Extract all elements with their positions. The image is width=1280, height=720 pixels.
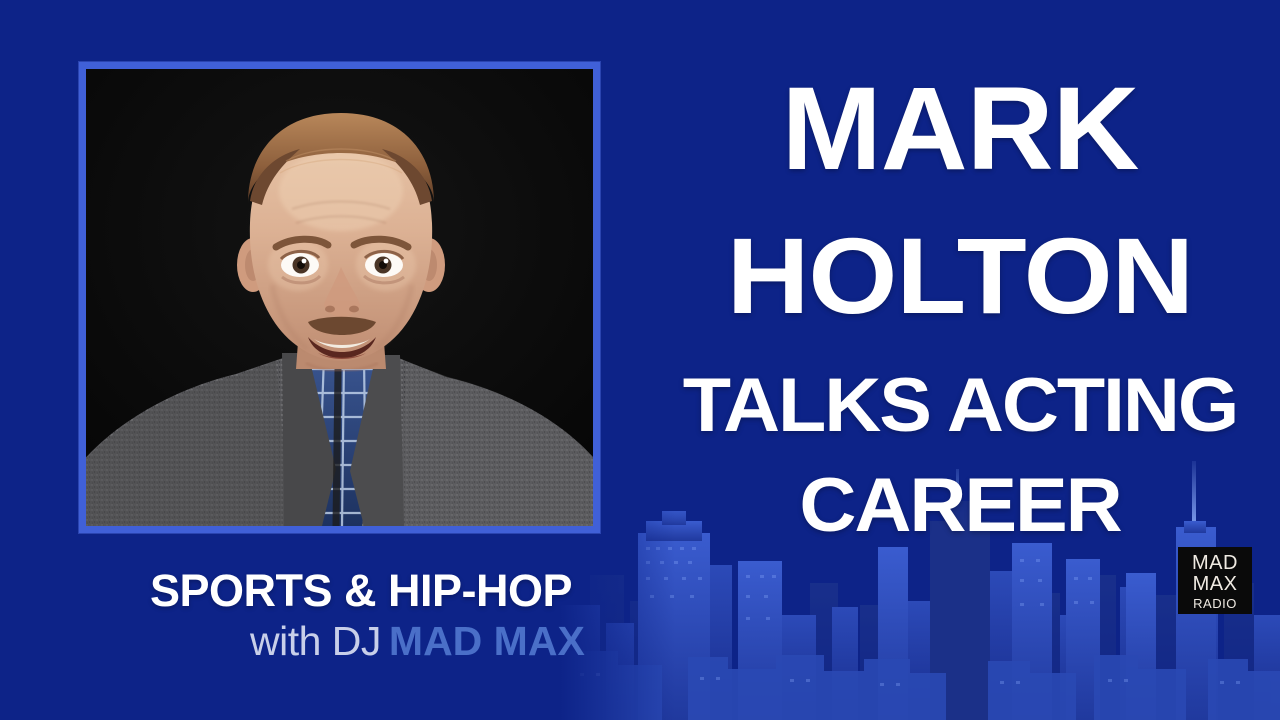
station-logo-line-2: MAX: [1193, 574, 1238, 594]
show-title: SPORTS & HIP-HOP: [150, 568, 620, 614]
station-logo: MAD MAX RADIO: [1178, 547, 1252, 614]
show-host-name: MAD MAX: [389, 618, 585, 664]
show-host-line: with DJMAD MAX: [250, 620, 620, 663]
show-branding: SPORTS & HIP-HOP with DJMAD MAX: [150, 568, 620, 663]
video-thumbnail: MARK HOLTON TALKS ACTING CAREER SPORTS &…: [0, 0, 1280, 720]
show-host-prefix: with DJ: [250, 618, 381, 664]
station-logo-line-3: RADIO: [1193, 597, 1237, 610]
title-guest-first-name: MARK: [654, 70, 1266, 188]
guest-portrait-photo: [86, 69, 593, 526]
video-title-block: MARK HOLTON TALKS ACTING CAREER: [660, 70, 1260, 550]
guest-portrait-frame: [79, 62, 600, 533]
station-logo-line-1: MAD: [1192, 553, 1238, 573]
title-subtitle-line-2: CAREER: [648, 468, 1272, 544]
title-guest-last-name: HOLTON: [642, 222, 1278, 330]
title-subtitle-line-1: TALKS ACTING: [648, 368, 1272, 444]
